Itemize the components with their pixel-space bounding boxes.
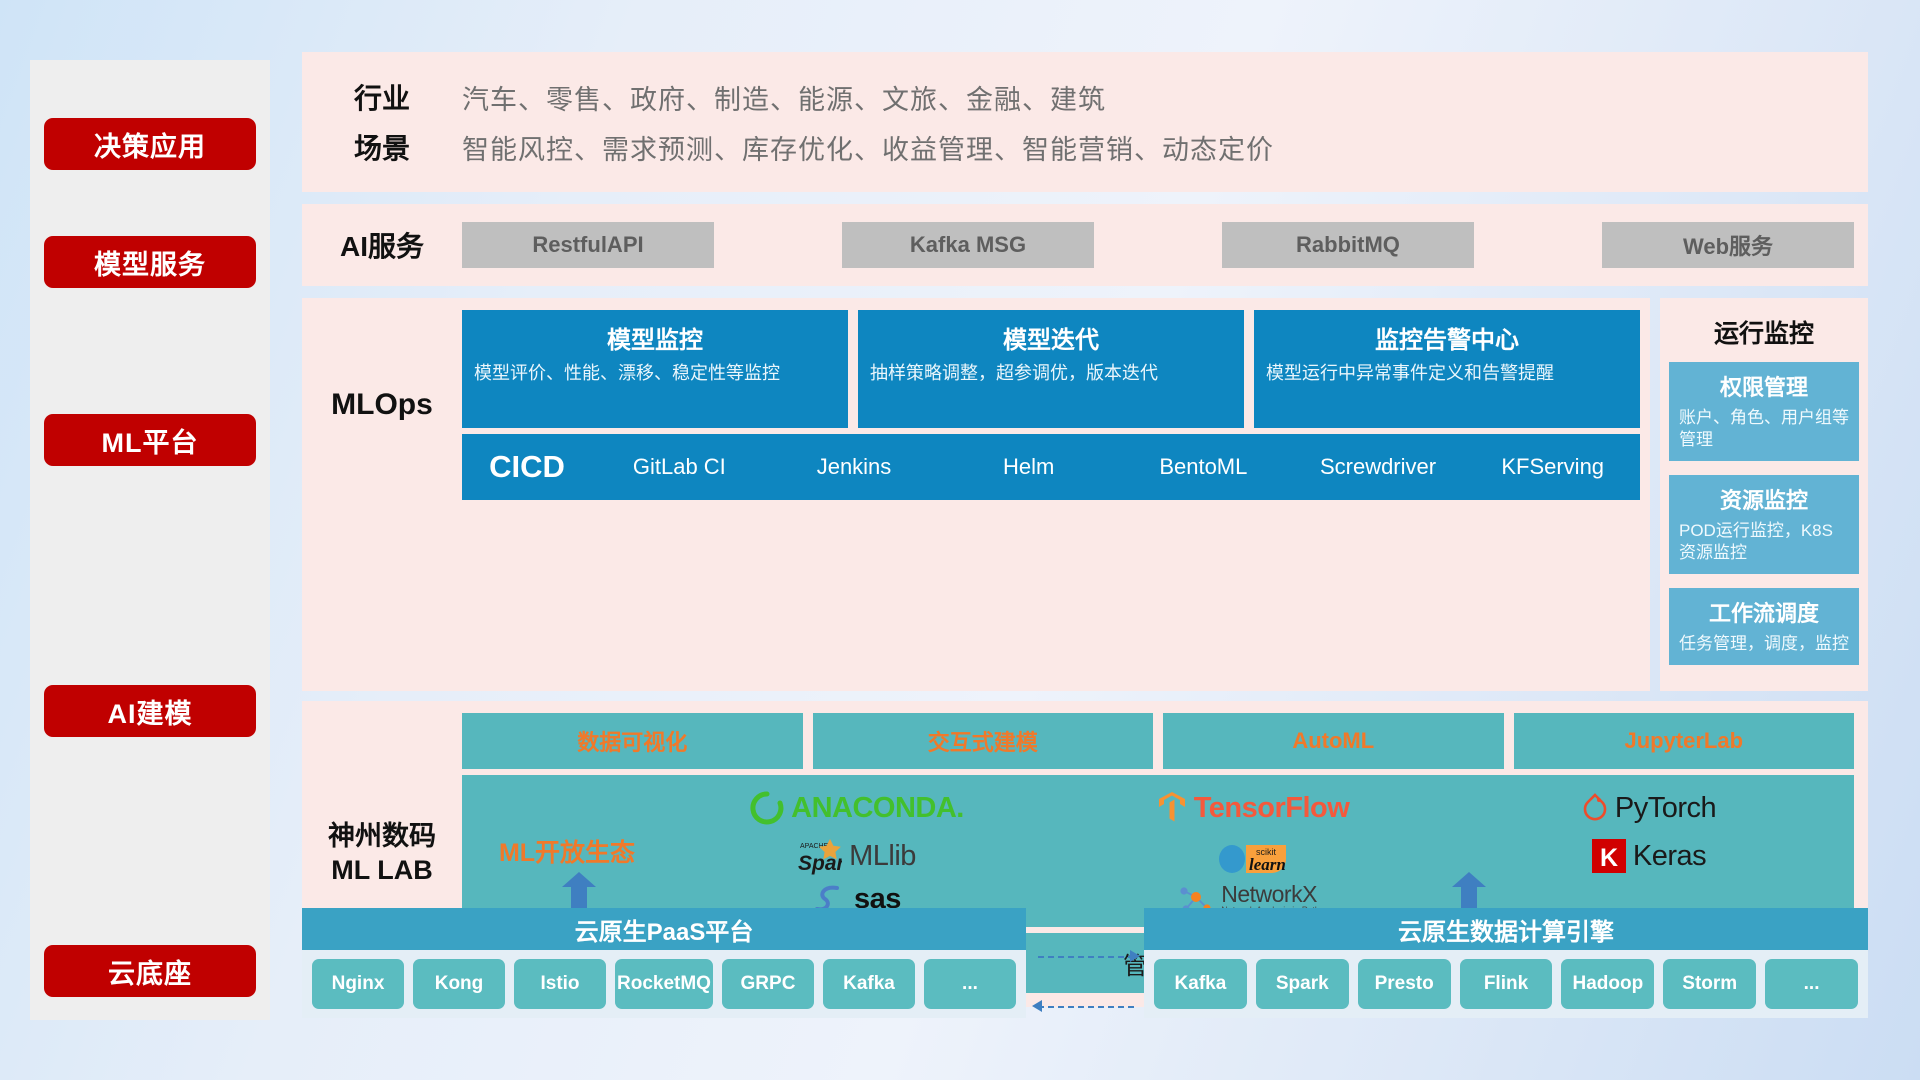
ml-lab-label-line2: ML LAB bbox=[328, 853, 436, 888]
cloud-native-data-engine-block: 云原生数据计算引擎 Kafka Spark Presto Flink Hadoo… bbox=[1144, 908, 1868, 1018]
rail-item-ai-modeling[interactable]: AI建模 bbox=[44, 685, 256, 737]
industry-values: 汽车、零售、政府、制造、能源、文旅、金融、建筑 bbox=[462, 78, 1106, 117]
cloud-chip-istio[interactable]: Istio bbox=[514, 959, 606, 1009]
dashed-connector-right bbox=[1038, 956, 1134, 958]
cloud-native-paas-block: 云原生PaaS平台 Nginx Kong Istio RocketMQ GRPC… bbox=[302, 908, 1026, 1018]
ai-service-label: AI服务 bbox=[302, 225, 462, 265]
cloud-chip-kong[interactable]: Kong bbox=[413, 959, 505, 1009]
monitor-card-workflow[interactable]: 工作流调度 任务管理，调度，监控 bbox=[1669, 588, 1859, 665]
tensorflow-icon bbox=[1157, 790, 1187, 826]
logo-label: ANACONDA. bbox=[791, 792, 964, 825]
rail-label: 模型服务 bbox=[94, 243, 206, 282]
cloud-chip-kafka[interactable]: Kafka bbox=[1154, 959, 1247, 1009]
ai-service-chip[interactable]: RestfulAPI bbox=[462, 222, 714, 268]
scikit-learn-logo: scikit learn bbox=[1216, 833, 1290, 879]
rail-item-ml-platform[interactable]: ML平台 bbox=[44, 414, 256, 466]
card-desc: 模型运行中异常事件定义和告警提醒 bbox=[1266, 362, 1628, 386]
rail-label: ML平台 bbox=[102, 421, 199, 460]
dashed-arrow-head-right bbox=[1130, 950, 1140, 962]
scenario-values: 智能风控、需求预测、库存优化、收益管理、智能营销、动态定价 bbox=[462, 128, 1274, 167]
cicd-item[interactable]: KFServing bbox=[1465, 454, 1640, 479]
cloud-foundation-section: 云原生PaaS平台 Nginx Kong Istio RocketMQ GRPC… bbox=[302, 884, 1868, 1054]
ml-platform-row: MLOps 模型监控 模型评价、性能、漂移、稳定性等监控 模型迭代 抽样策略调整… bbox=[302, 298, 1868, 691]
cicd-item[interactable]: Helm bbox=[941, 454, 1116, 479]
monitor-card-permissions[interactable]: 权限管理 账户、角色、用户组等管理 bbox=[1669, 362, 1859, 461]
cloud-paas-title: 云原生PaaS平台 bbox=[302, 908, 1026, 950]
cicd-item[interactable]: GitLab CI bbox=[592, 454, 767, 479]
pytorch-icon bbox=[1582, 792, 1608, 824]
ai-service-chip[interactable]: RabbitMQ bbox=[1222, 222, 1474, 268]
mlops-card-model-monitoring[interactable]: 模型监控 模型评价、性能、漂移、稳定性等监控 bbox=[462, 310, 848, 428]
svg-text:K: K bbox=[1600, 844, 1618, 872]
cicd-item[interactable]: Screwdriver bbox=[1291, 454, 1466, 479]
cicd-bar: CICD GitLab CI Jenkins Helm BentoML Scre… bbox=[462, 434, 1640, 500]
architecture-main-column: 行业 汽车、零售、政府、制造、能源、文旅、金融、建筑 场景 智能风控、需求预测、… bbox=[302, 52, 1868, 1007]
tensorflow-logo: TensorFlow bbox=[1157, 790, 1350, 826]
logo-label: Keras bbox=[1633, 840, 1706, 873]
spark-mllib-logo: APACHE Spark MLlib bbox=[798, 836, 916, 876]
runtime-monitor-rail: 运行监控 权限管理 账户、角色、用户组等管理 资源监控 POD运行监控，K8S资… bbox=[1660, 298, 1868, 691]
cloud-data-engine-title: 云原生数据计算引擎 bbox=[1144, 908, 1868, 950]
tool-chip-data-visualization[interactable]: 数据可视化 bbox=[462, 713, 803, 769]
mlops-card-list: 模型监控 模型评价、性能、漂移、稳定性等监控 模型迭代 抽样策略调整，超参调优，… bbox=[462, 310, 1640, 428]
tool-chip-automl[interactable]: AutoML bbox=[1163, 713, 1504, 769]
scenario-key: 场景 bbox=[302, 127, 462, 167]
cloud-chip-presto[interactable]: Presto bbox=[1358, 959, 1451, 1009]
rail-label: 云底座 bbox=[108, 952, 192, 991]
logo-label: PyTorch bbox=[1615, 792, 1716, 825]
monitor-card-resources[interactable]: 资源监控 POD运行监控，K8S资源监控 bbox=[1669, 475, 1859, 574]
card-title: 监控告警中心 bbox=[1266, 320, 1628, 355]
cloud-chip-hadoop[interactable]: Hadoop bbox=[1561, 959, 1654, 1009]
dashed-connector-left bbox=[1038, 1006, 1134, 1008]
card-desc: 任务管理，调度，监控 bbox=[1679, 633, 1849, 655]
card-desc: 模型评价、性能、漂移、稳定性等监控 bbox=[474, 362, 836, 386]
rail-item-model-service[interactable]: 模型服务 bbox=[44, 236, 256, 288]
card-title: 资源监控 bbox=[1679, 483, 1849, 515]
ai-service-chip[interactable]: Web服务 bbox=[1602, 222, 1854, 268]
cloud-chip-nginx[interactable]: Nginx bbox=[312, 959, 404, 1009]
svg-text:learn: learn bbox=[1249, 855, 1286, 874]
keras-logo: K Keras bbox=[1592, 839, 1706, 873]
decision-apps-band: 行业 汽车、零售、政府、制造、能源、文旅、金融、建筑 场景 智能风控、需求预测、… bbox=[302, 52, 1868, 192]
cicd-item[interactable]: BentoML bbox=[1116, 454, 1291, 479]
ai-service-chip-list: RestfulAPI Kafka MSG RabbitMQ Web服务 bbox=[462, 222, 1868, 268]
dashed-arrow-head-left bbox=[1032, 1000, 1042, 1012]
anaconda-icon bbox=[750, 791, 784, 825]
cloud-chip-kafka[interactable]: Kafka bbox=[823, 959, 915, 1009]
cloud-chip-rocketmq[interactable]: RocketMQ bbox=[615, 959, 713, 1009]
left-stage-rail: 决策应用 模型服务 ML平台 AI建模 云底座 bbox=[30, 60, 270, 1020]
mlops-card-model-iteration[interactable]: 模型迭代 抽样策略调整，超参调优，版本迭代 bbox=[858, 310, 1244, 428]
rail-item-cloud-foundation[interactable]: 云底座 bbox=[44, 945, 256, 997]
cloud-chip-flink[interactable]: Flink bbox=[1460, 959, 1553, 1009]
up-arrow-icon bbox=[562, 872, 596, 910]
cloud-chip-more[interactable]: ... bbox=[924, 959, 1016, 1009]
anaconda-logo: ANACONDA. bbox=[750, 791, 964, 825]
ai-service-band: AI服务 RestfulAPI Kafka MSG RabbitMQ Web服务 bbox=[302, 204, 1868, 286]
card-desc: 抽样策略调整，超参调优，版本迭代 bbox=[870, 362, 1232, 386]
scikit-learn-icon: scikit learn bbox=[1216, 833, 1290, 879]
rail-label: AI建模 bbox=[108, 692, 193, 731]
cloud-chip-more[interactable]: ... bbox=[1765, 959, 1858, 1009]
card-title: 模型监控 bbox=[474, 320, 836, 355]
rail-item-decision-apps[interactable]: 决策应用 bbox=[44, 118, 256, 170]
cloud-chip-grpc[interactable]: GRPC bbox=[722, 959, 814, 1009]
cicd-item[interactable]: Jenkins bbox=[767, 454, 942, 479]
mlops-label: MLOps bbox=[302, 310, 462, 500]
runtime-monitor-title: 运行监控 bbox=[1669, 314, 1859, 350]
card-title: 模型迭代 bbox=[870, 320, 1232, 355]
card-desc: 账户、角色、用户组等管理 bbox=[1679, 407, 1849, 451]
keras-icon: K bbox=[1592, 839, 1626, 873]
logo-label: MLlib bbox=[849, 840, 916, 873]
cloud-chip-storm[interactable]: Storm bbox=[1663, 959, 1756, 1009]
pytorch-logo: PyTorch bbox=[1582, 792, 1716, 825]
ml-open-ecosystem-label: ML开放生态 bbox=[472, 833, 662, 869]
tool-chip-jupyterlab[interactable]: JupyterLab bbox=[1514, 713, 1855, 769]
modeling-tool-list: 数据可视化 交互式建模 AutoML JupyterLab bbox=[462, 713, 1854, 769]
mlops-card-alert-center[interactable]: 监控告警中心 模型运行中异常事件定义和告警提醒 bbox=[1254, 310, 1640, 428]
cloud-data-engine-chip-list: Kafka Spark Presto Flink Hadoop Storm ..… bbox=[1144, 950, 1868, 1018]
tool-chip-interactive-modeling[interactable]: 交互式建模 bbox=[813, 713, 1154, 769]
spark-icon: APACHE Spark bbox=[798, 836, 842, 876]
industry-key: 行业 bbox=[302, 77, 462, 117]
mlops-band: MLOps 模型监控 模型评价、性能、漂移、稳定性等监控 模型迭代 抽样策略调整… bbox=[302, 298, 1650, 691]
cicd-title: CICD bbox=[462, 449, 592, 485]
card-desc: POD运行监控，K8S资源监控 bbox=[1679, 520, 1849, 564]
logo-label: TensorFlow bbox=[1194, 792, 1350, 825]
ml-lab-label-line1: 神州数码 bbox=[328, 819, 436, 854]
scenario-row: 场景 智能风控、需求预测、库存优化、收益管理、智能营销、动态定价 bbox=[302, 122, 1868, 172]
cloud-chip-spark[interactable]: Spark bbox=[1256, 959, 1349, 1009]
industry-row: 行业 汽车、零售、政府、制造、能源、文旅、金融、建筑 bbox=[302, 72, 1868, 122]
up-arrow-icon bbox=[1452, 872, 1486, 910]
ai-service-chip[interactable]: Kafka MSG bbox=[842, 222, 1094, 268]
card-title: 工作流调度 bbox=[1679, 596, 1849, 628]
rail-label: 决策应用 bbox=[94, 125, 206, 164]
card-title: 权限管理 bbox=[1679, 370, 1849, 402]
cloud-paas-chip-list: Nginx Kong Istio RocketMQ GRPC Kafka ... bbox=[302, 950, 1026, 1018]
